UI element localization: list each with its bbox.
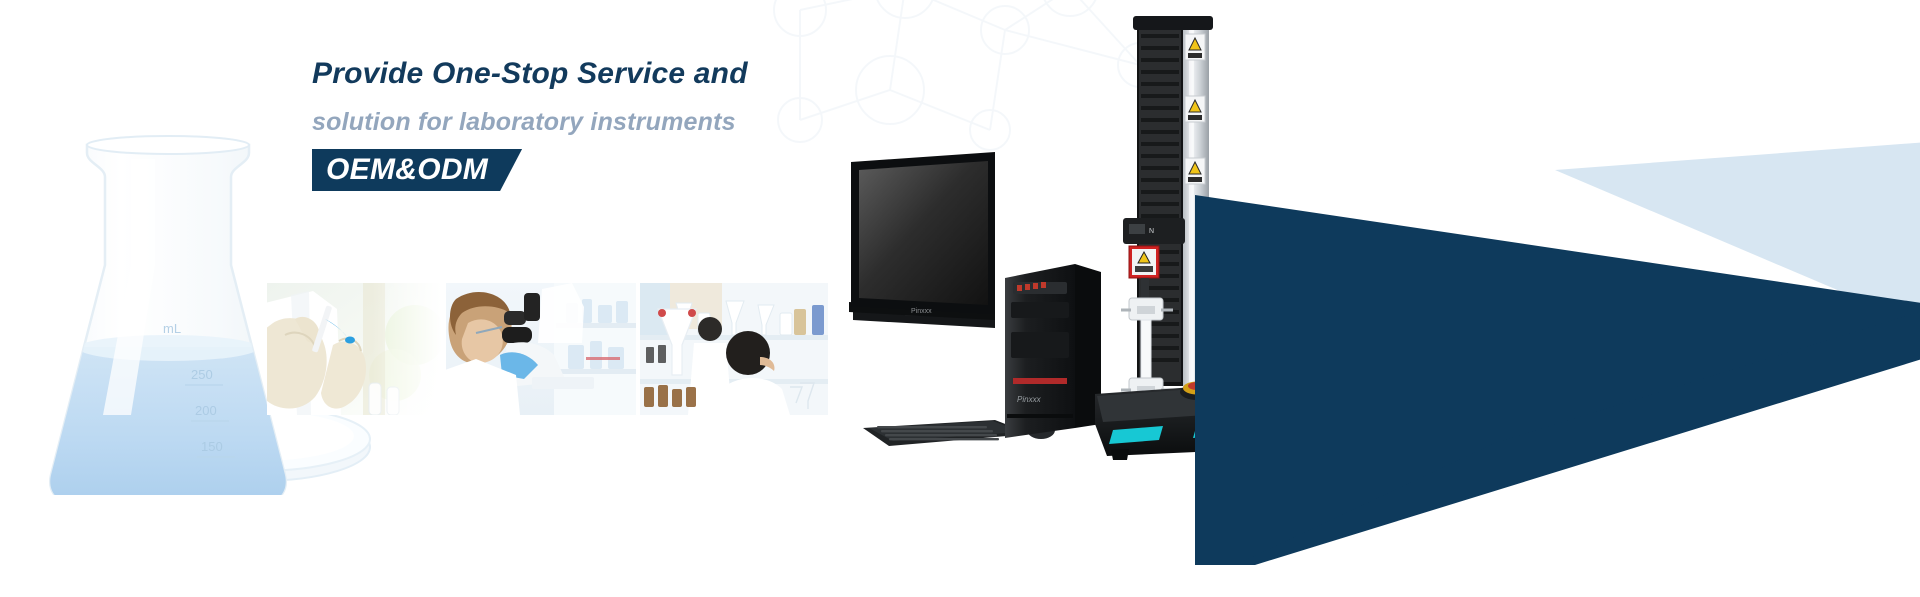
oem-odm-badge-wrapper: OEM&ODM	[312, 149, 522, 191]
oem-odm-badge: OEM&ODM	[312, 149, 522, 191]
dark-navy-arrow-shape	[1195, 195, 1920, 565]
svg-text:250: 250	[191, 367, 213, 382]
monitor-part: Pinxxx	[849, 152, 995, 328]
tower-part: Pinxxx	[1005, 264, 1101, 438]
warning-label-icon	[1185, 34, 1205, 184]
photo-scientist-pipetting-test-tube	[267, 283, 442, 415]
svg-text:N: N	[1149, 228, 1154, 235]
svg-text:Pinxxx: Pinxxx	[1017, 395, 1042, 404]
photo-researchers-in-laboratory	[640, 283, 828, 415]
lab-photo-strip	[267, 283, 828, 415]
photo-scientist-at-microscope	[446, 283, 636, 415]
hero-banner: mL 250 200 150 Provide One-Stop Service …	[0, 0, 1920, 597]
svg-text:150: 150	[201, 439, 223, 454]
svg-text:200: 200	[195, 403, 217, 418]
svg-text:Pinxxx: Pinxxx	[911, 308, 932, 315]
svg-text:mL: mL	[163, 321, 181, 336]
